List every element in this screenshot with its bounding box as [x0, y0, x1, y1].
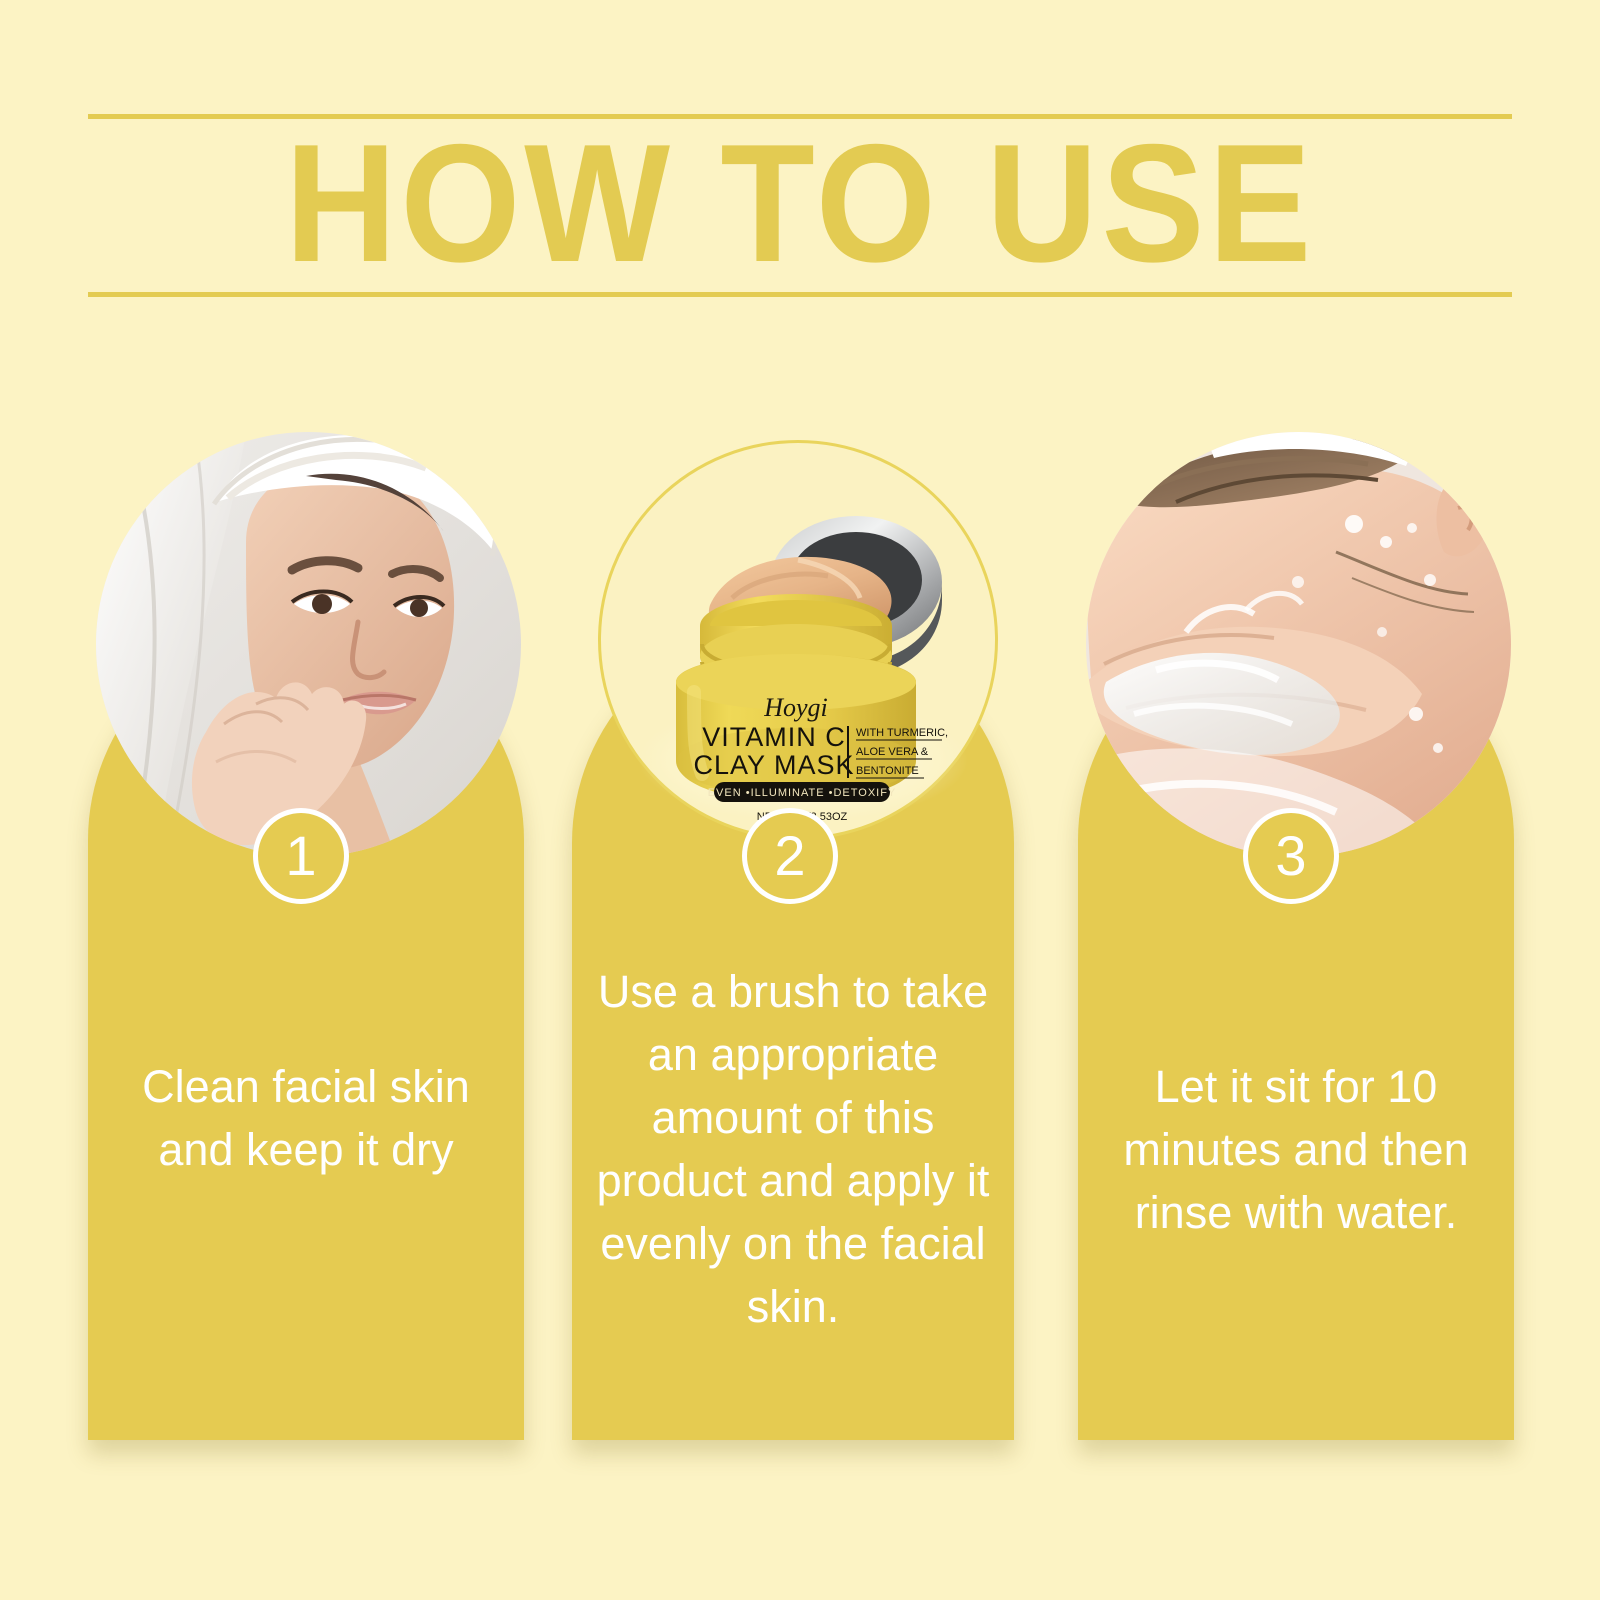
- svg-text:CLAY MASK: CLAY MASK: [693, 750, 854, 780]
- step-1-description: Clean facial skin and keep it dry: [100, 1055, 512, 1181]
- svg-text:BENTONITE: BENTONITE: [856, 765, 919, 777]
- step-2-number: 2: [774, 828, 805, 884]
- svg-text:EVEN •ILLUMINATE •DETOXIFY: EVEN •ILLUMINATE •DETOXIFY: [708, 787, 897, 799]
- step-2-description: Use a brush to take an appropriate amoun…: [582, 960, 1004, 1338]
- step-1-number-badge: 1: [253, 808, 349, 904]
- step-3-photo: [1086, 432, 1511, 857]
- step-2-product-illustration: Hoygi VITAMIN C CLAY MASK WITH TURMERIC,…: [598, 430, 1018, 830]
- step-3-number-badge: 3: [1243, 808, 1339, 904]
- svg-text:WITH TURMERIC,: WITH TURMERIC,: [856, 727, 948, 739]
- header-rule-bottom: [88, 292, 1512, 297]
- product-brand: Hoygi: [763, 693, 828, 722]
- step-3-number: 3: [1275, 828, 1306, 884]
- svg-text:ALOE VERA &: ALOE VERA &: [856, 746, 929, 758]
- page-title: HOW TO USE: [64, 118, 1536, 288]
- step-1-number: 1: [285, 828, 316, 884]
- step-3-description: Let it sit for 10 minutes and then rinse…: [1090, 1055, 1502, 1244]
- svg-text:VITAMIN C: VITAMIN C: [702, 722, 846, 752]
- infographic-page: HOW TO USE: [0, 0, 1600, 1600]
- step-2-number-badge: 2: [742, 808, 838, 904]
- step-1-photo: [96, 432, 521, 857]
